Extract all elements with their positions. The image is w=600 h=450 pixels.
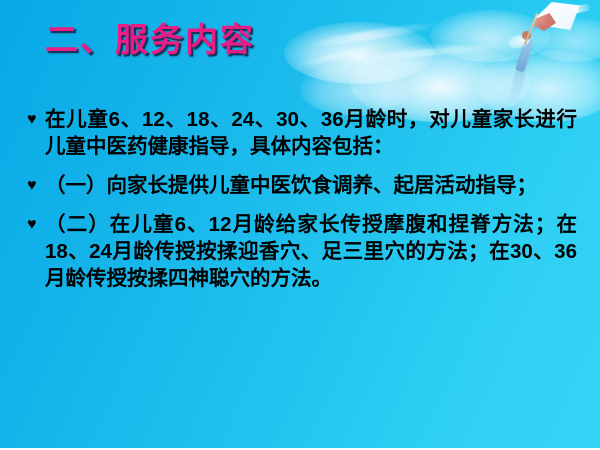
banner-flag-red [534, 13, 556, 31]
flying-person-body [515, 37, 534, 72]
cloud-wisp [291, 40, 389, 70]
banner-flag-white [536, 2, 580, 30]
list-item-text: 在儿童6、12、18、24、30、36月龄时，对儿童家长进行儿童中医药健康指导，… [45, 106, 577, 160]
flying-person-head [522, 31, 531, 40]
slide-title: 二、服务内容 [45, 22, 255, 60]
heart-bullet-icon: ♥ [27, 211, 45, 238]
flying-person-wing [507, 32, 532, 51]
cloud-shape [430, 10, 550, 62]
cloud-shape [284, 22, 434, 84]
list-item-text: （一）向家长提供儿童中医饮食调养、起居活动指导； [45, 172, 577, 199]
flying-person-icon [478, 2, 598, 107]
list-item: ♥ 在儿童6、12、18、24、30、36月龄时，对儿童家长进行儿童中医药健康指… [27, 106, 577, 160]
banner-pole [524, 13, 539, 45]
heart-bullet-icon: ♥ [27, 106, 45, 133]
heart-bullet-icon: ♥ [27, 172, 45, 199]
sky-clouds-decoration [280, 0, 600, 120]
banner-flag-tip [573, 3, 590, 13]
presentation-slide: 二、服务内容 ♥ 在儿童6、12、18、24、30、36月龄时，对儿童家长进行儿… [0, 0, 600, 450]
list-item: ♥ （一）向家长提供儿童中医饮食调养、起居活动指导； [27, 172, 577, 199]
list-item: ♥ （二）在儿童6、12月龄给家长传授摩腹和捏脊方法；在18、24月龄传授按揉迎… [27, 211, 577, 292]
list-item-text: （二）在儿童6、12月龄给家长传授摩腹和捏脊方法；在18、24月龄传授按揉迎香穴… [45, 211, 577, 292]
cloud-wisp [310, 20, 440, 49]
cloud-wisp [364, 41, 514, 61]
slide-body-list: ♥ 在儿童6、12、18、24、30、36月龄时，对儿童家长进行儿童中医药健康指… [27, 106, 577, 292]
cloud-shape [530, 18, 600, 62]
flying-person-trail [507, 50, 530, 107]
